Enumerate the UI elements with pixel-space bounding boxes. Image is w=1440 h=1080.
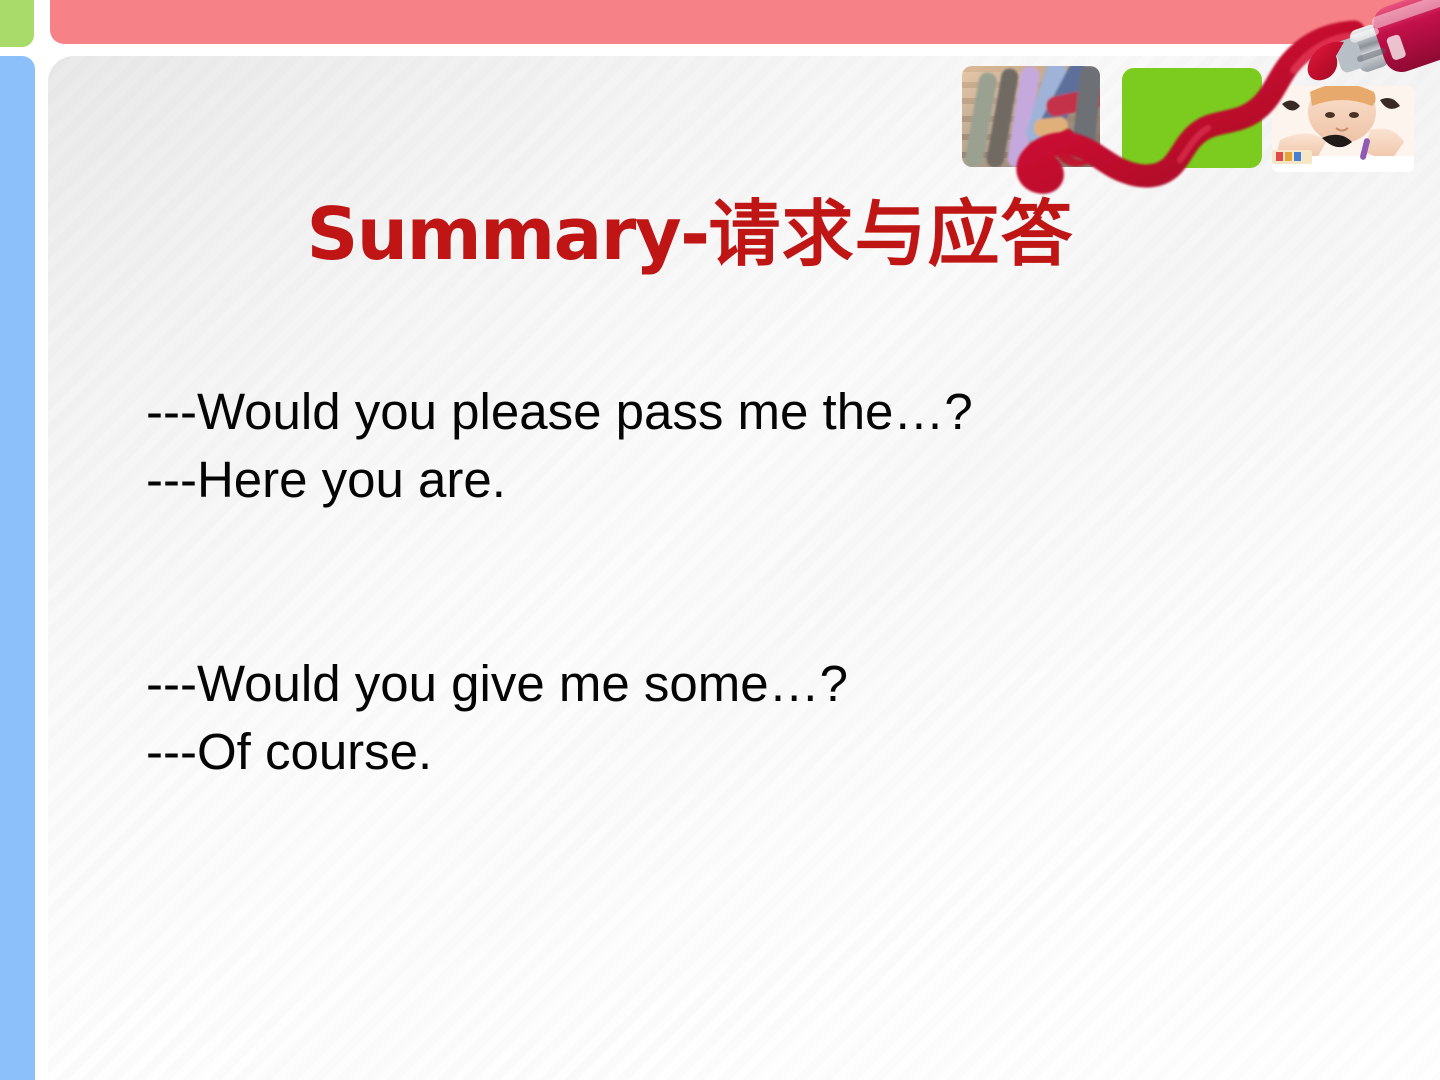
- dialogue-line-response-2: ---Of course.: [146, 718, 1326, 786]
- paragraph-spacer: [146, 514, 1326, 650]
- slide-title-han: 请求与应答: [709, 191, 1074, 276]
- dialogue-line-response-1: ---Here you are.: [146, 446, 1326, 514]
- salmon-top-bar-decoration: [50, 0, 1440, 44]
- dialogue-line-request-1: ---Would you please pass me the…?: [146, 378, 1326, 446]
- slide-body: ---Would you please pass me the…? ---Her…: [146, 378, 1326, 786]
- slide: Summary-请求与应答 ---Would you please pass m…: [0, 0, 1440, 1080]
- dialogue-line-request-2: ---Would you give me some…?: [146, 650, 1326, 718]
- blue-left-bar-decoration: [0, 56, 35, 1080]
- slide-title-latin: Summary-: [306, 192, 708, 276]
- green-rounded-square-decoration: [0, 0, 34, 47]
- slide-title: Summary-请求与应答: [100, 198, 1280, 271]
